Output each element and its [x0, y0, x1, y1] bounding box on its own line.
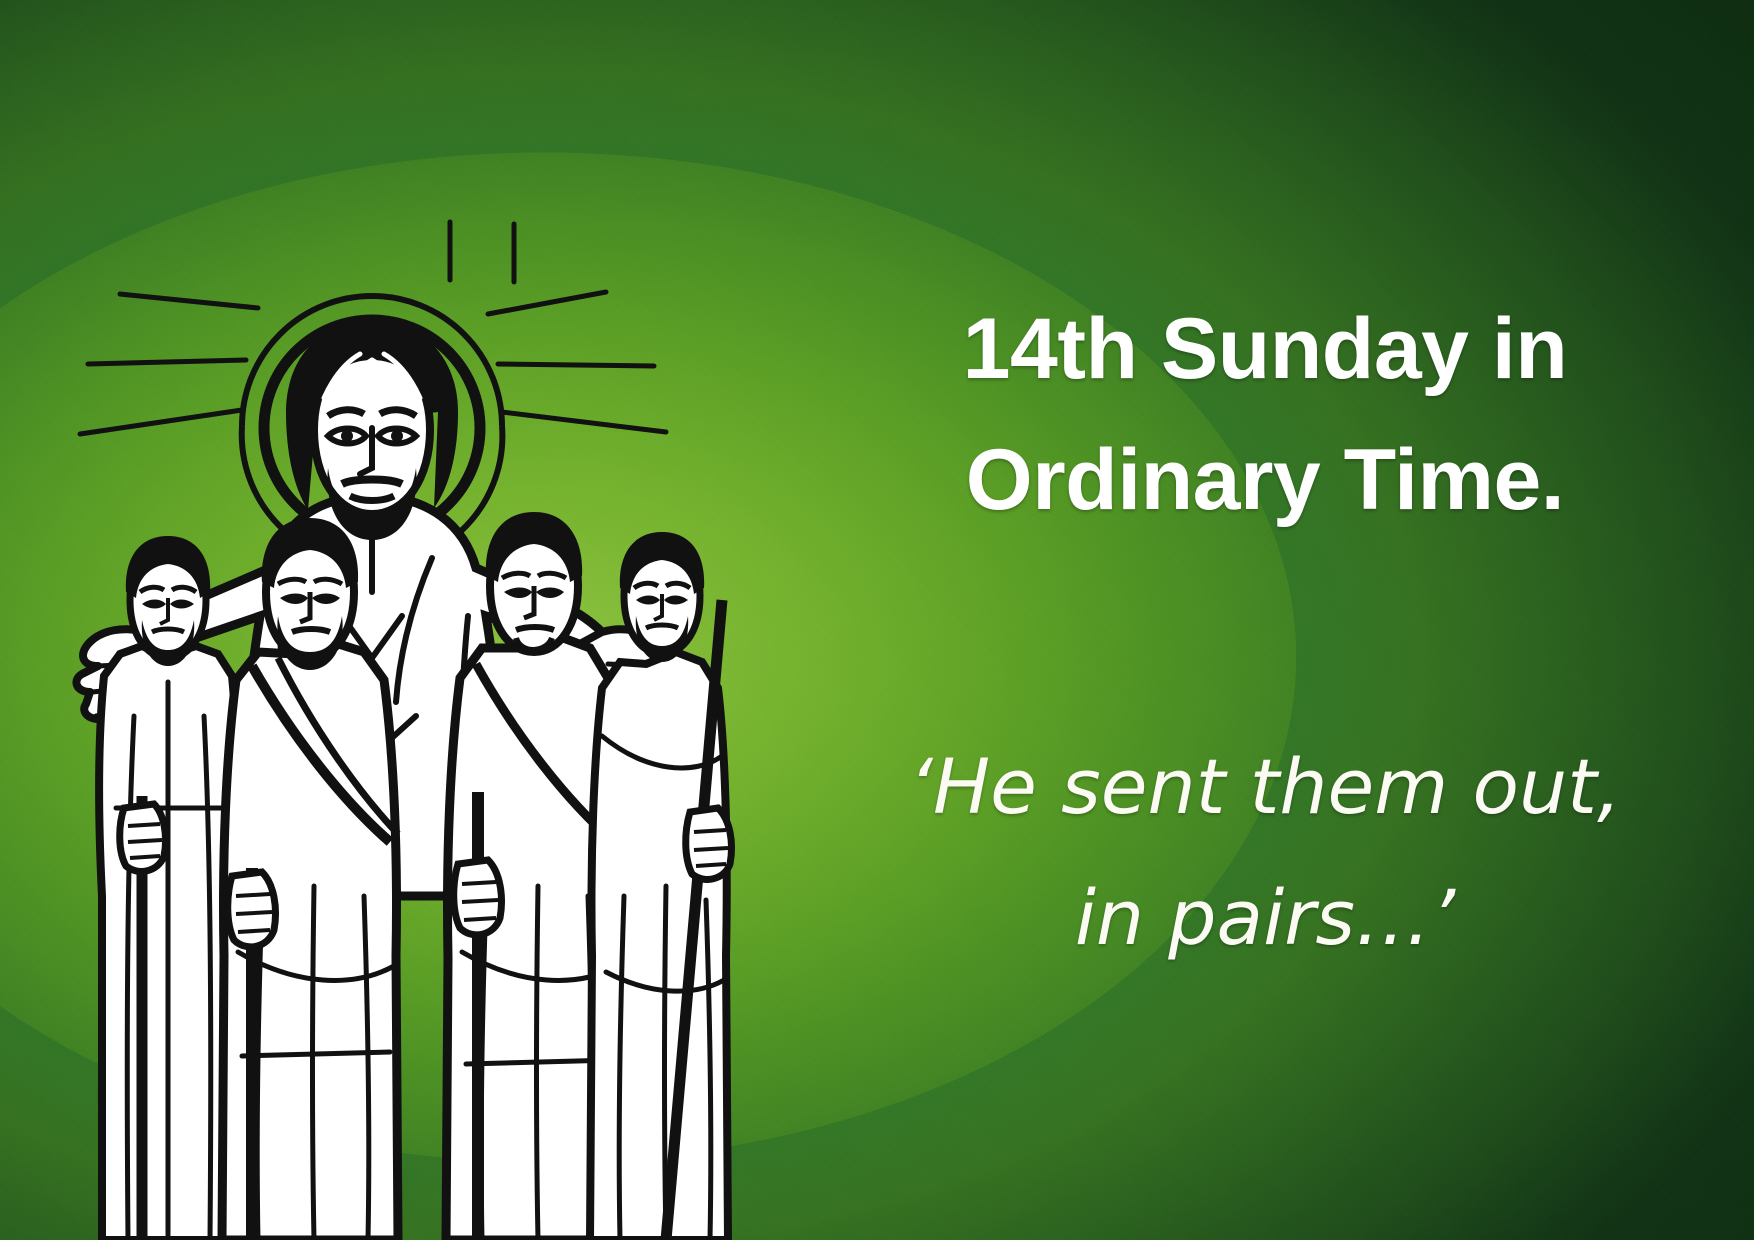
disciple-2-hand: [228, 872, 276, 947]
text-panel: 14th Sunday in Ordinary Time. ‘He sent t…: [800, 0, 1730, 1240]
artwork-group: [76, 222, 731, 1240]
artwork-christ-and-disciples: [46, 196, 746, 1240]
disciple-1-hand: [120, 804, 166, 871]
scripture-quote: ‘He sent them out, in pairs…’: [800, 722, 1730, 983]
slide-title: 14th Sunday in Ordinary Time.: [800, 284, 1730, 545]
disciple-4-hand: [686, 808, 732, 879]
disciple-3-hand: [454, 860, 502, 935]
slide-canvas: 14th Sunday in Ordinary Time. ‘He sent t…: [0, 0, 1754, 1240]
